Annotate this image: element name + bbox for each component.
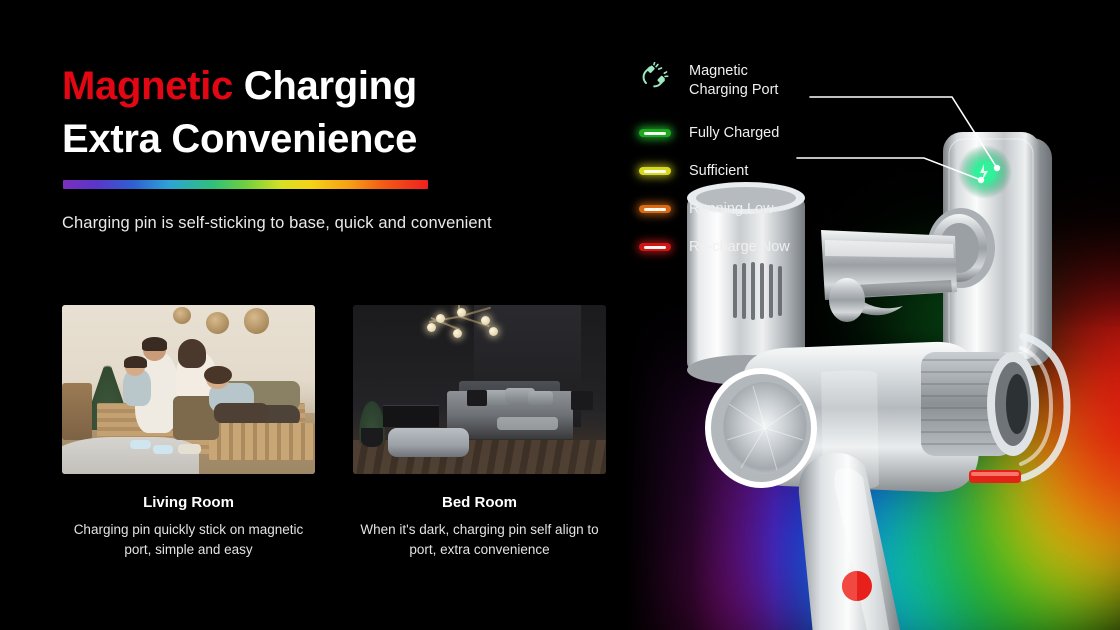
legend-label-sufficient: Sufficient — [689, 162, 748, 181]
legend-item-magnetic-charging-port[interactable]: Magnetic Charging Port — [633, 62, 873, 114]
child-1-hair — [124, 356, 147, 368]
bedside-lamp-right — [571, 391, 594, 410]
legend-label-fully-charged: Fully Charged — [689, 124, 779, 143]
shoe-2 — [153, 445, 173, 453]
product-showcase-panel: Magnetic Charging Port Fully Charged Suf… — [625, 0, 1120, 630]
feature-cards: Living Room Charging pin quickly stick o… — [62, 305, 607, 560]
led-pill-slot-green — [633, 129, 689, 137]
card-title-living-room: Living Room — [62, 494, 315, 511]
chandelier-bulb-5 — [489, 327, 498, 336]
bedside-lamp-left — [467, 390, 487, 407]
console-table — [383, 405, 439, 427]
legend-item-running-low[interactable]: Running Low — [633, 190, 873, 228]
led-pill-icon-yellow — [639, 167, 671, 175]
headline-accent-word: Magnetic — [62, 64, 233, 108]
legend-label-magnetic-charging-port: Magnetic Charging Port — [689, 62, 778, 100]
legend-item-sufficient[interactable]: Sufficient — [633, 152, 873, 190]
magnet-icon — [639, 62, 669, 92]
legend-item-fully-charged[interactable]: Fully Charged — [633, 114, 873, 152]
card-desc-living-room: Charging pin quickly stick on magnetic p… — [62, 520, 315, 560]
chandelier-bulb-2 — [436, 314, 445, 323]
pillow-3 — [528, 391, 553, 405]
page-title: Magnetic Charging Extra Convenience — [62, 60, 602, 166]
shoe-3 — [178, 444, 201, 454]
legend-label-line2: Charging Port — [689, 81, 778, 100]
living-room-photo — [62, 305, 315, 474]
plant-pot — [361, 428, 384, 447]
card-title-bed-room: Bed Room — [353, 494, 606, 511]
copy-panel: Magnetic Charging Extra Convenience Char… — [0, 0, 625, 630]
slide-canvas: Magnetic Charging Port Fully Charged Suf… — [0, 0, 1120, 630]
legend-label-running-low: Running Low — [689, 200, 774, 219]
mother-hair — [178, 339, 206, 368]
shoe-1 — [130, 440, 150, 448]
card-desc-bed-room: When it's dark, charging pin self align … — [353, 520, 606, 560]
charge-status-legend: Magnetic Charging Port Fully Charged Suf… — [633, 62, 873, 266]
led-pill-icon-green — [639, 129, 671, 137]
chandelier — [419, 305, 505, 352]
wall-basket-1 — [206, 312, 229, 334]
feature-card-bed-room[interactable]: Bed Room When it's dark, charging pin se… — [353, 305, 606, 560]
chandelier-bulb-6 — [453, 329, 462, 338]
feature-card-living-room[interactable]: Living Room Charging pin quickly stick o… — [62, 305, 315, 560]
legend-label-line1: Magnetic — [689, 62, 778, 81]
pallet-ottoman — [209, 423, 315, 460]
child-2-hair — [204, 366, 232, 385]
led-pill-icon-orange — [639, 205, 671, 213]
led-pill-icon-red — [639, 243, 671, 251]
headline-rest-line-1: Charging — [233, 64, 417, 108]
led-pill-slot-red — [633, 243, 689, 251]
father-hair — [142, 337, 167, 351]
magnet-icon-slot — [633, 62, 689, 92]
rainbow-divider — [63, 180, 428, 189]
bed-room-photo — [353, 305, 606, 474]
child-2-legs — [214, 403, 270, 423]
bed-throw — [497, 417, 558, 431]
led-pill-slot-orange — [633, 205, 689, 213]
charge-led-indicator — [958, 145, 1012, 199]
subtitle-text: Charging pin is self-sticking to base, q… — [62, 214, 492, 233]
chandelier-bulb-3 — [481, 316, 490, 325]
vacuum-drum-body — [705, 336, 1067, 492]
headline-line-1: Magnetic Charging — [62, 60, 602, 113]
headline-line-2: Extra Convenience — [62, 113, 602, 166]
chandelier-bulb-1 — [457, 308, 466, 317]
legend-label-recharge-now: Re-charge Now — [689, 238, 790, 257]
side-chair — [62, 383, 92, 440]
bedroom-bench — [388, 428, 469, 457]
legend-item-recharge-now[interactable]: Re-charge Now — [633, 228, 873, 266]
wall-basket-3 — [173, 307, 191, 324]
chandelier-bulb-4 — [427, 323, 436, 332]
wall-basket-2 — [244, 308, 269, 333]
led-pill-slot-yellow — [633, 167, 689, 175]
